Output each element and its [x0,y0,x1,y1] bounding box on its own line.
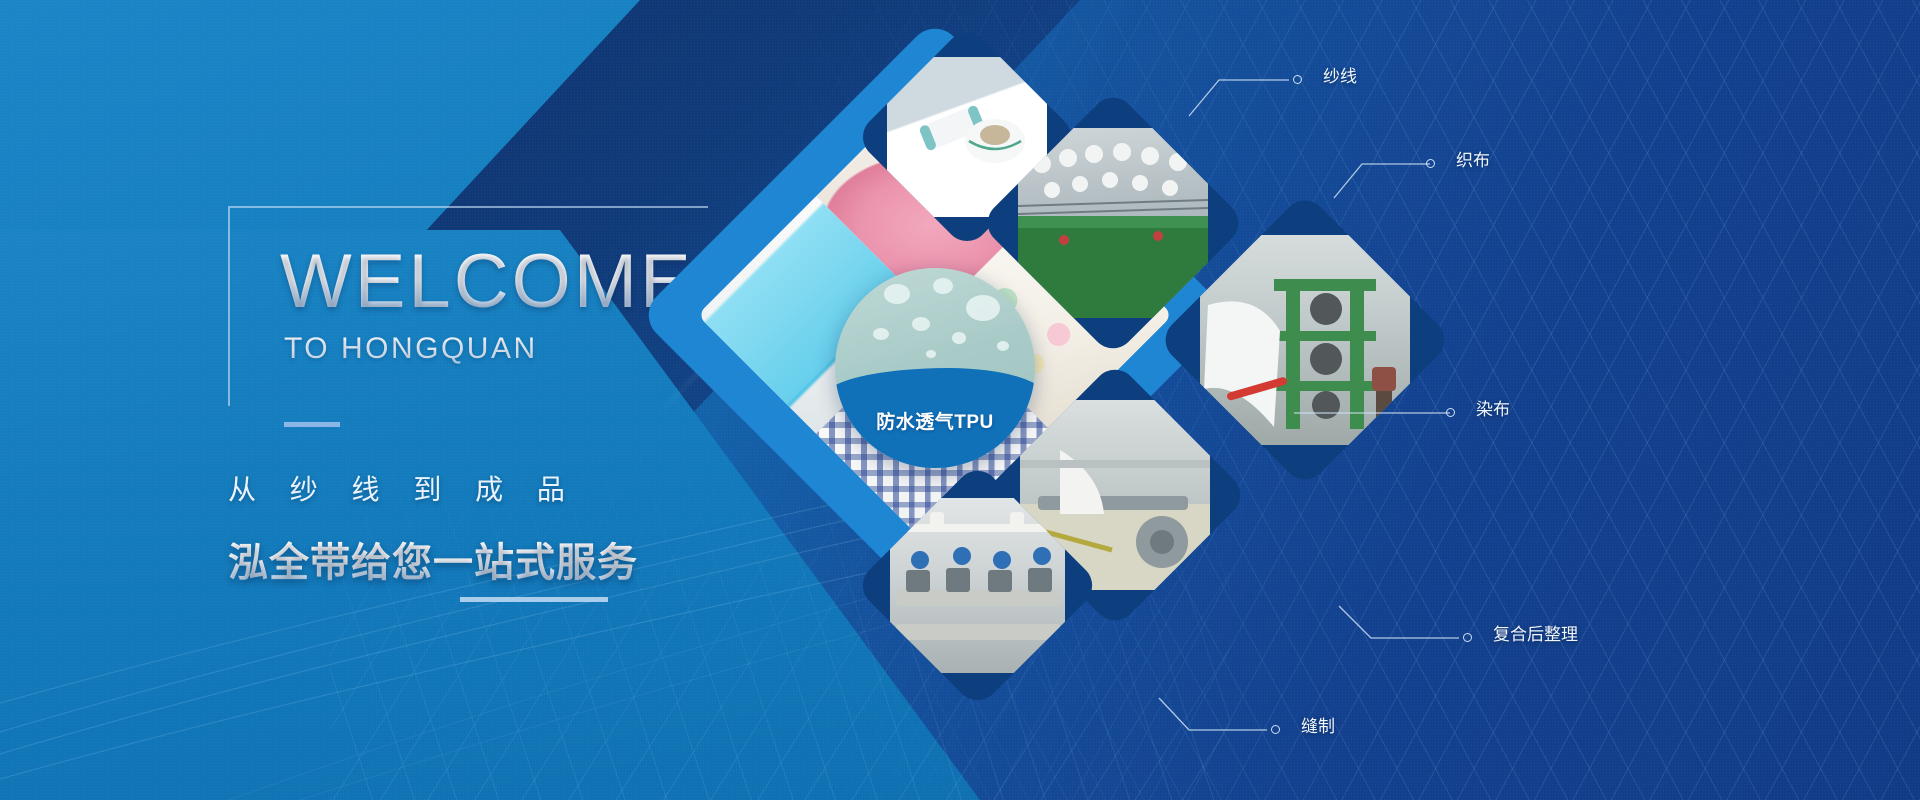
tagline-light: 从 纱 线 到 成 品 [228,468,578,508]
status-badge: 防水透气TPU [835,268,1035,468]
badge-label: 防水透气TPU [835,407,1035,434]
label-dyeing: 染布 [1476,395,1510,420]
leader-dot-lamination [1463,633,1472,642]
headline-divider [284,422,340,427]
process-diagram: 防水透气TPU [690,0,1920,800]
bottom-divider [460,597,608,602]
label-weaving: 织布 [1456,146,1490,171]
page-title: WELCOME [280,244,694,320]
tagline-bold: 泓全带给您一站式服务 [228,530,638,588]
banner-stage: WELCOME TO HONGQUAN 从 纱 线 到 成 品 泓全带给您一站式… [0,0,1920,800]
label-sewing: 缝制 [1301,712,1335,737]
leader-dot-sewing [1271,725,1280,734]
leader-dot-yarn [1293,75,1302,84]
leader-dot-weaving [1426,159,1435,168]
page-subtitle: TO HONGQUAN [284,332,538,366]
leader-dot-dyeing [1446,408,1455,417]
label-yarn: 纱线 [1323,62,1357,87]
label-lamination: 复合后整理 [1493,620,1578,645]
